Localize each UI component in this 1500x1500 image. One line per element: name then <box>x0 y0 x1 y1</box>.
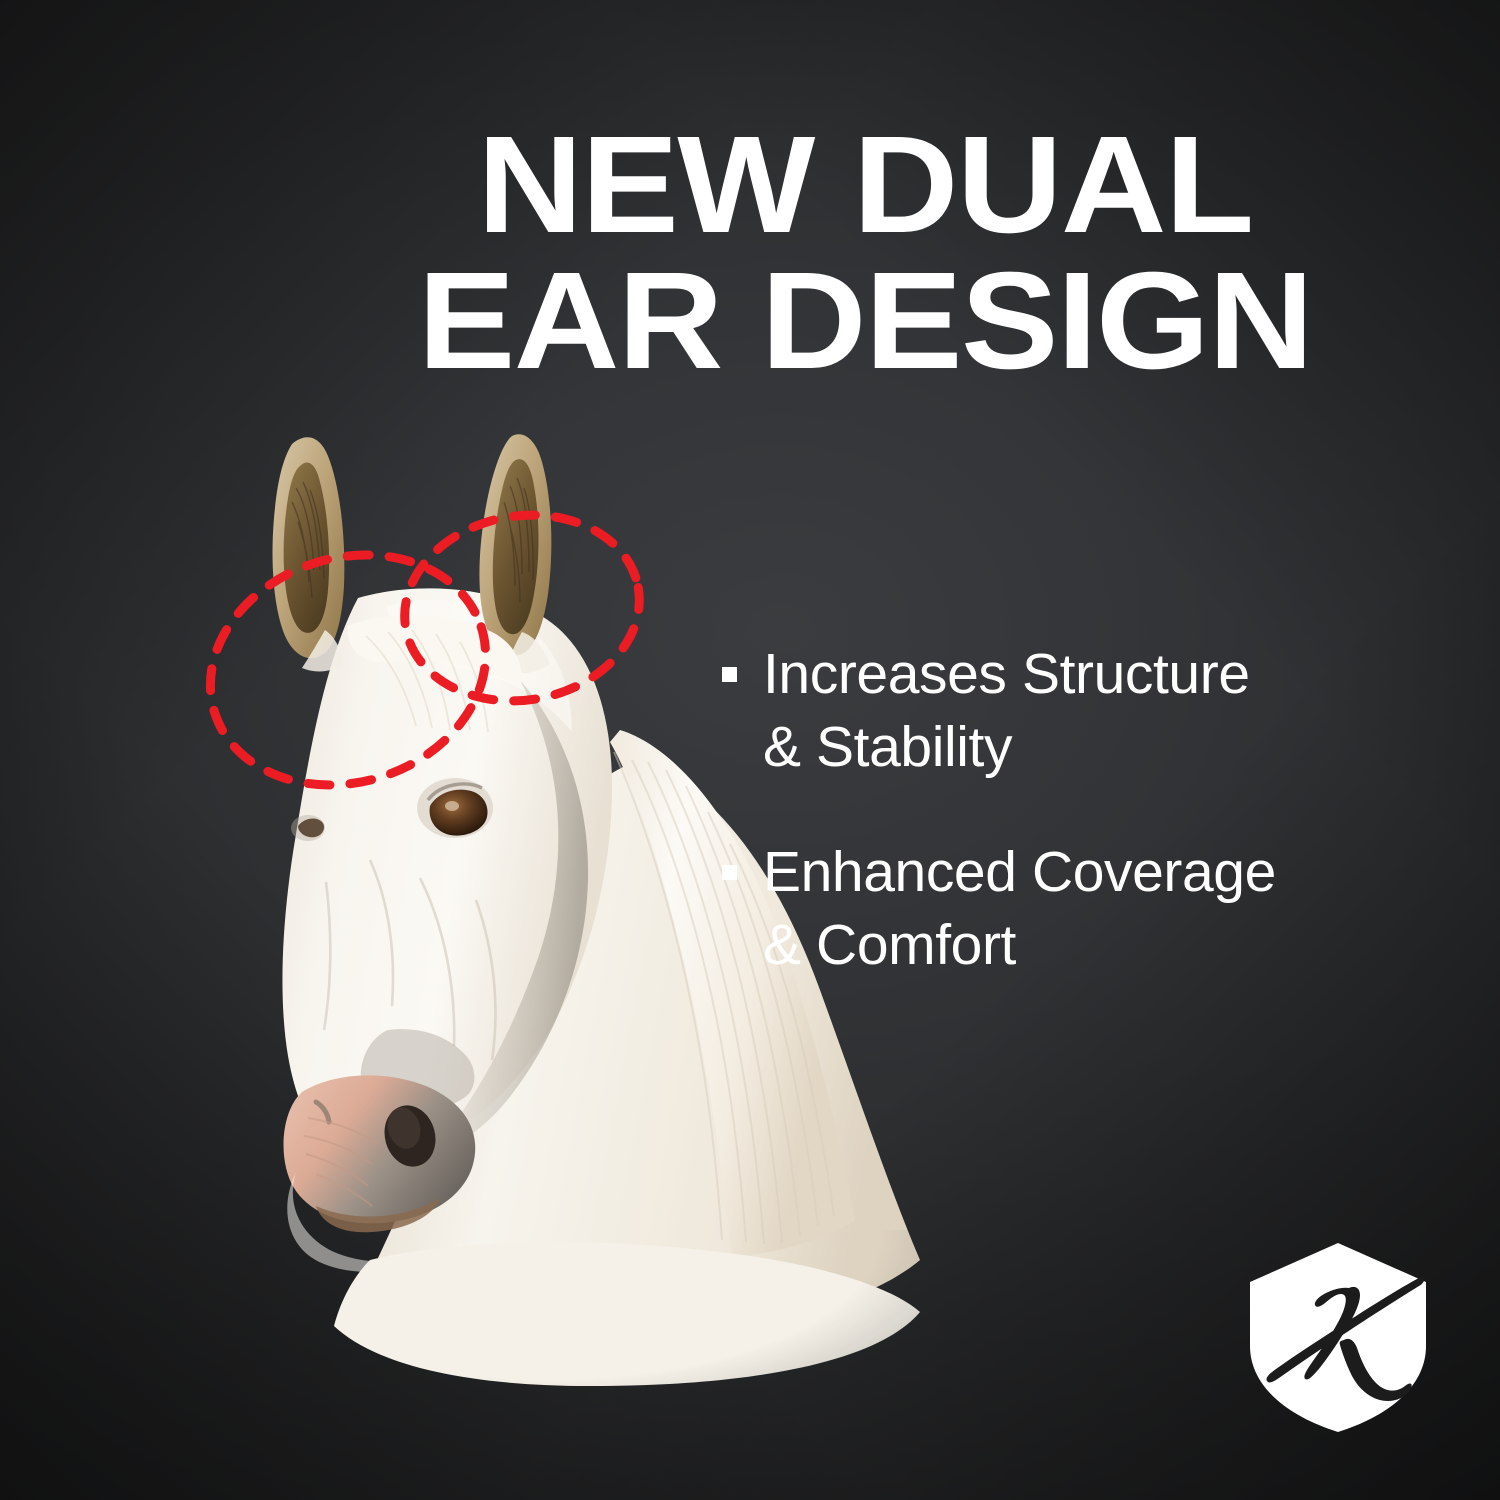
brand-logo <box>1243 1240 1433 1435</box>
promo-banner: NEW DUAL EAR DESIGN <box>0 0 1500 1500</box>
feature-list: Increases Structure & Stability Enhanced… <box>722 638 1422 1034</box>
feature-line-2: & Comfort <box>763 913 1016 977</box>
headline-line-2: EAR DESIGN <box>335 254 1395 390</box>
page-title: NEW DUAL EAR DESIGN <box>335 118 1395 390</box>
feature-line-2: & Stability <box>763 715 1012 779</box>
feature-text: Enhanced Coverage & Comfort <box>763 836 1276 982</box>
list-item: Enhanced Coverage & Comfort <box>722 836 1422 982</box>
feature-line-1: Enhanced Coverage <box>763 840 1276 904</box>
square-bullet-icon <box>722 667 737 682</box>
horse-ear-left <box>273 437 345 671</box>
feature-text: Increases Structure & Stability <box>763 638 1250 784</box>
shield-k-logo-icon <box>1243 1240 1433 1435</box>
headline-line-1: NEW DUAL <box>335 118 1395 254</box>
list-item: Increases Structure & Stability <box>722 638 1422 784</box>
square-bullet-icon <box>722 865 737 880</box>
feature-line-1: Increases Structure <box>763 642 1250 706</box>
horse-eye <box>417 778 493 838</box>
horse-eye-far <box>291 815 325 841</box>
